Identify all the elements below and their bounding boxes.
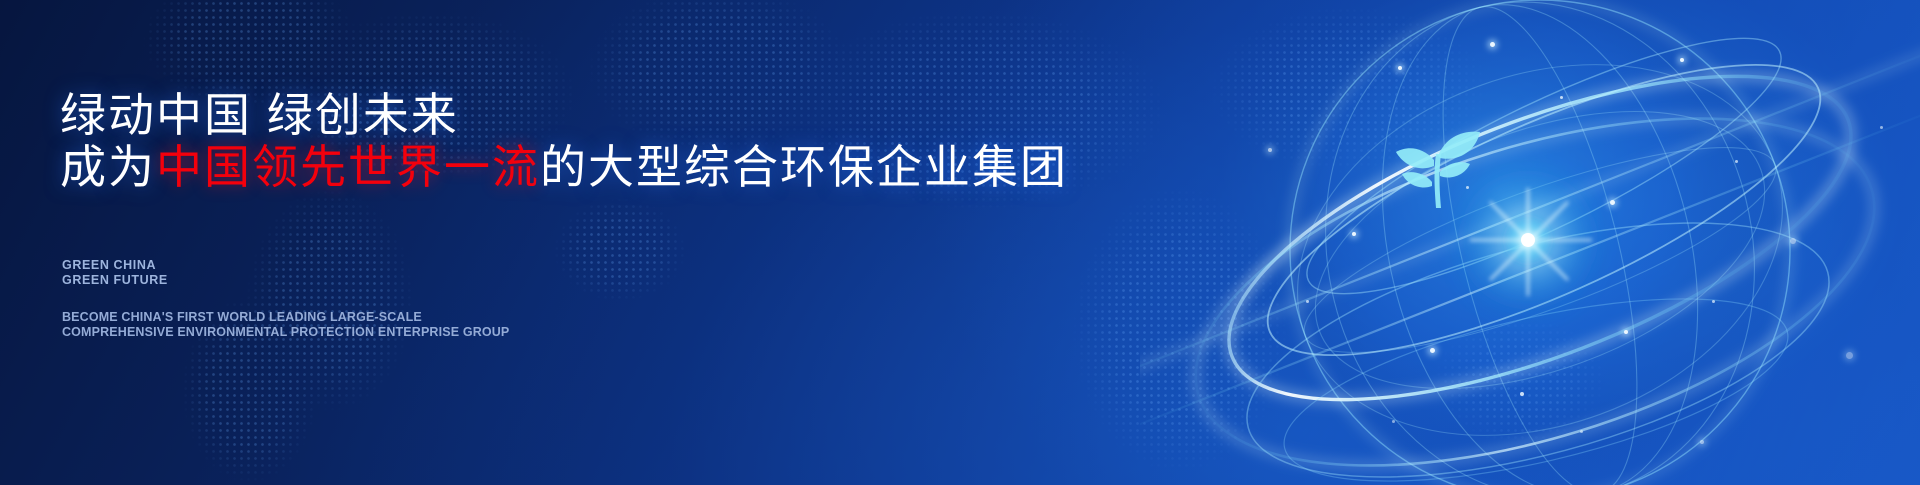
tagline-english-line1: BECOME CHINA'S FIRST WORLD LEADING LARGE… [62, 310, 509, 325]
wireframe-globe-icon [1140, 0, 1920, 485]
subtitle-english: GREEN CHINA GREEN FUTURE [62, 258, 168, 288]
headline-secondary-suffix: 的大型综合环保企业集团 [540, 141, 1068, 193]
promo-banner: 绿动中国 绿创未来 成为中国领先世界一流的大型综合环保企业集团 GREEN CH… [0, 0, 1920, 485]
headline-secondary-prefix: 成为 [60, 141, 156, 193]
sprout-leaf-icon [1384, 112, 1488, 216]
banner-copy: 绿动中国 绿创未来 成为中国领先世界一流的大型综合环保企业集团 GREEN CH… [60, 0, 1120, 485]
subtitle-english-line2: GREEN FUTURE [62, 273, 168, 288]
headline-secondary-highlight: 中国领先世界一流 [156, 141, 540, 193]
tagline-english: BECOME CHINA'S FIRST WORLD LEADING LARGE… [62, 310, 509, 340]
tagline-english-line2: COMPREHENSIVE ENVIRONMENTAL PROTECTION E… [62, 325, 509, 340]
headline-secondary: 成为中国领先世界一流的大型综合环保企业集团 [60, 131, 1068, 197]
subtitle-english-line1: GREEN CHINA [62, 258, 168, 273]
